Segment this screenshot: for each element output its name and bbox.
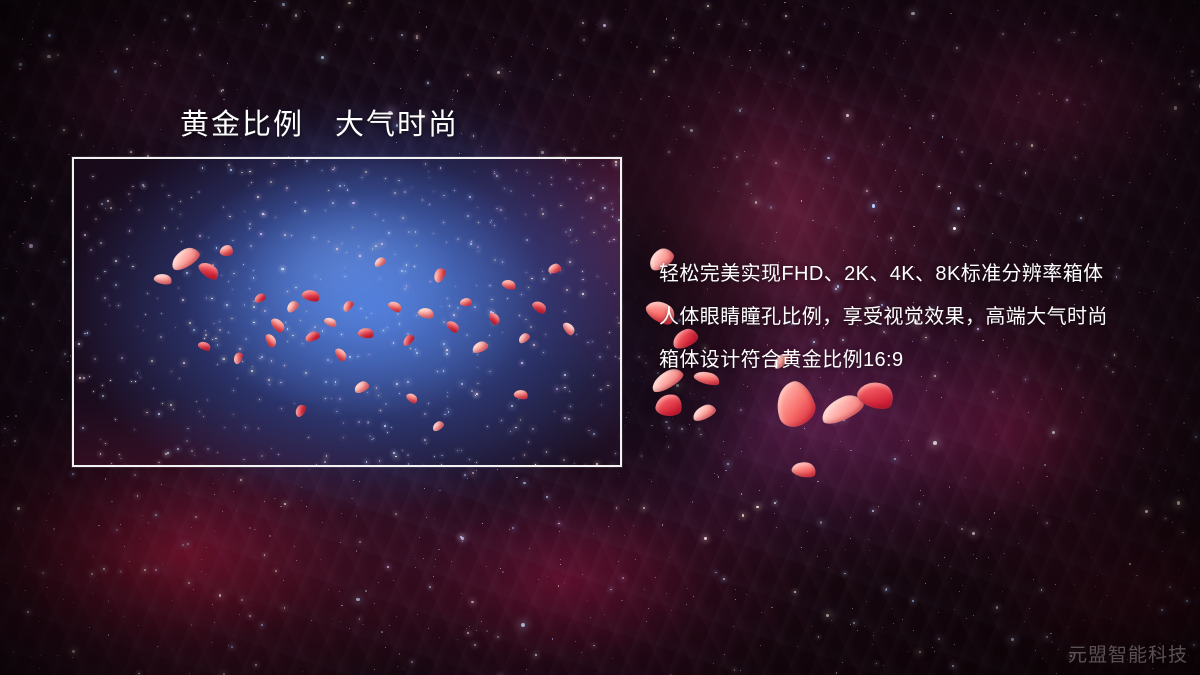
slide-canvas: 黄金比例 大气时尚 轻松完美实现FHD、2K、4K、8K标准分辨率箱体 人体眼睛… xyxy=(0,0,1200,675)
page-title: 黄金比例 大气时尚 xyxy=(180,101,459,143)
petal xyxy=(770,377,820,431)
body-text-block: 轻松完美实现FHD、2K、4K、8K标准分辨率箱体 人体眼睛瞳孔比例，享受视觉效… xyxy=(659,253,1179,382)
watermark-label: 元盟智能科技 xyxy=(1068,640,1188,667)
petal xyxy=(690,402,717,423)
petal xyxy=(791,459,818,479)
framed-starfield xyxy=(74,159,620,465)
body-line-3: 箱体设计符合黄金比例16:9 xyxy=(659,339,1179,382)
body-line-1: 轻松完美实现FHD、2K、4K、8K标准分辨率箱体 xyxy=(659,253,1179,296)
petal xyxy=(654,392,683,418)
picture-frame-content xyxy=(74,159,620,465)
picture-frame[interactable] xyxy=(72,157,622,467)
body-line-2: 人体眼睛瞳孔比例，享受视觉效果，高端大气时尚 xyxy=(659,296,1179,339)
petal xyxy=(817,391,866,428)
